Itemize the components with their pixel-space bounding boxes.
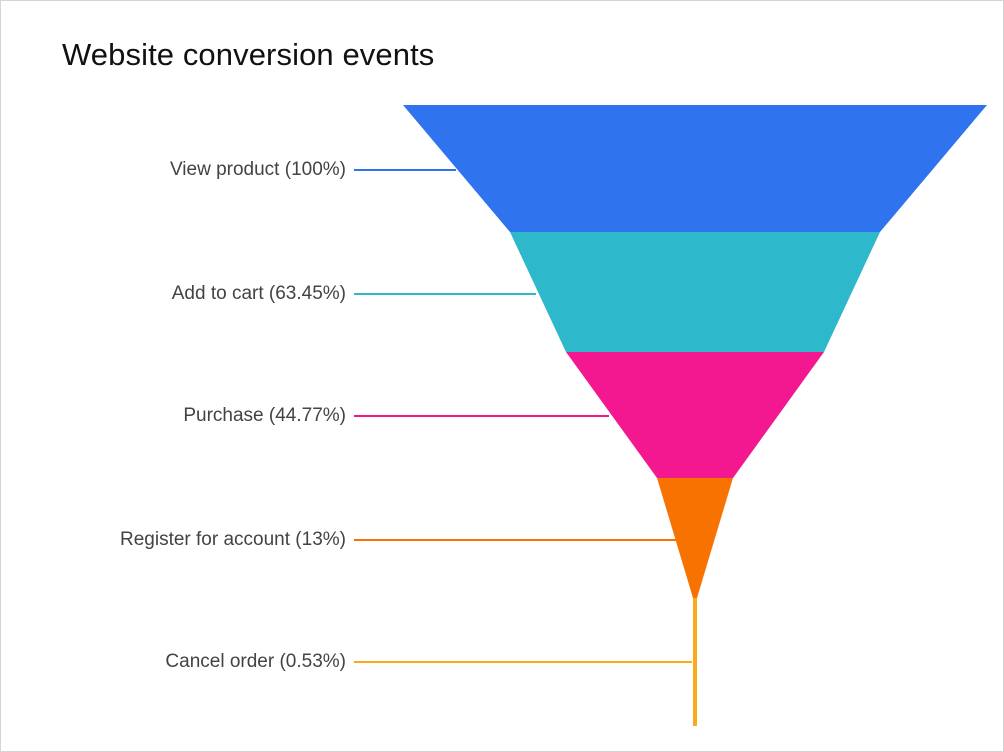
funnel-segment-add-to-cart[interactable] <box>510 232 880 352</box>
funnel-chart: Website conversion events View product (… <box>0 0 1004 752</box>
funnel-segment-view-product[interactable] <box>403 105 987 232</box>
funnel-label-view-product[interactable]: View product (100%) <box>1 159 346 181</box>
funnel-label-purchase[interactable]: Purchase (44.77%) <box>1 405 346 427</box>
funnel-label-cancel-order[interactable]: Cancel order (0.53%) <box>1 651 346 673</box>
funnel-label-register-for-account[interactable]: Register for account (13%) <box>1 529 346 551</box>
funnel-graphic <box>1 1 1004 752</box>
funnel-segment-cancel-order[interactable] <box>693 598 697 726</box>
funnel-label-add-to-cart[interactable]: Add to cart (63.45%) <box>1 283 346 305</box>
funnel-segment-register-for-account[interactable] <box>657 478 733 598</box>
